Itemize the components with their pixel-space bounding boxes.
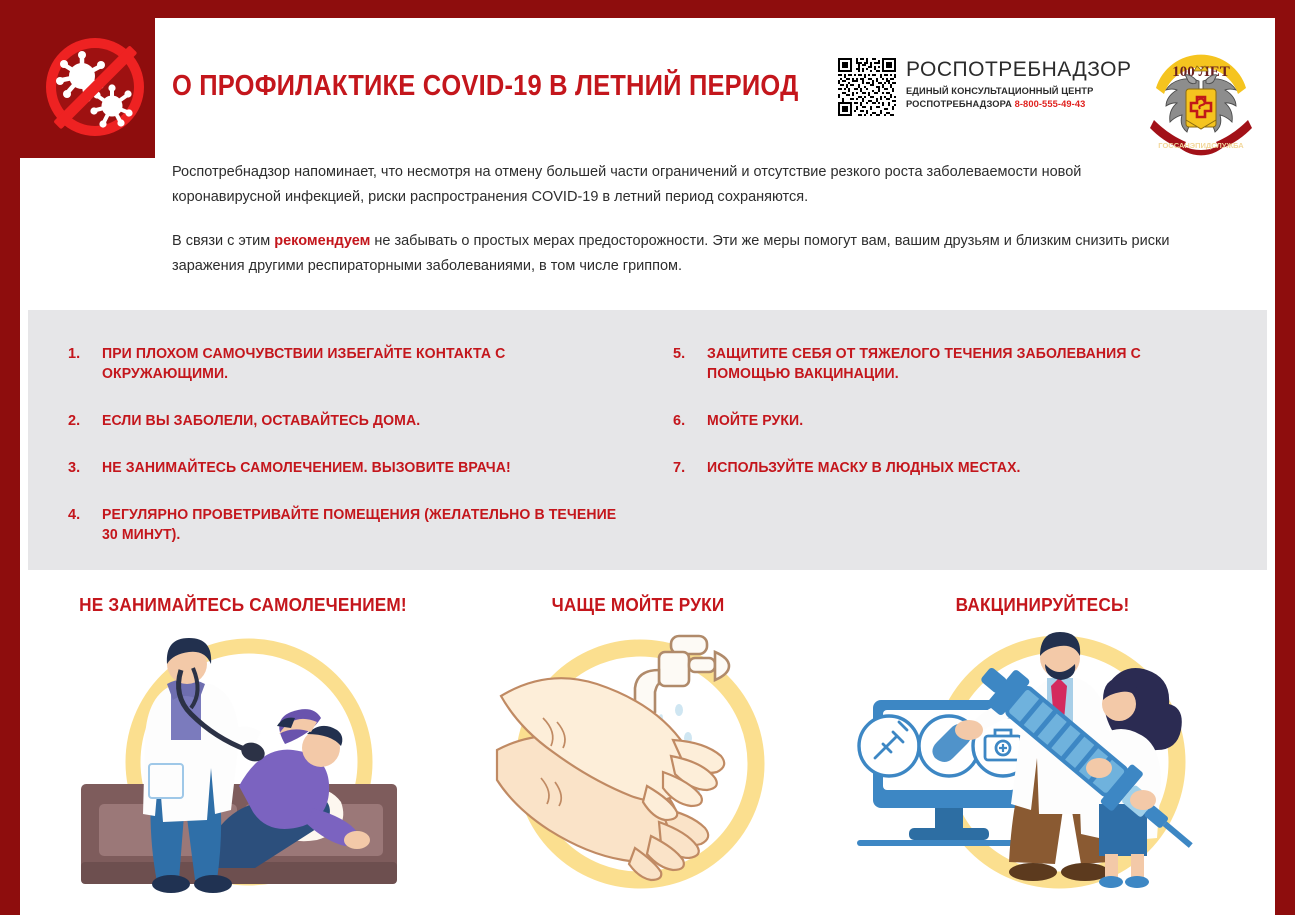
rospotrebnadzor-emblem-icon: 100 ЛЕТ ГОССАНЭП <box>1142 36 1260 158</box>
hotline-number[interactable]: 8-800-555-49-43 <box>1015 99 1086 110</box>
illustration-caption: ВАКЦИНИРУЙТЕСЬ! <box>834 594 1252 616</box>
rule-text: МОЙТЕ РУКИ. <box>707 411 803 431</box>
rules-panel: 1. ПРИ ПЛОХОМ САМОЧУВСТВИИ ИЗБЕГАЙТЕ КОН… <box>28 310 1267 570</box>
poster-header: О ПРОФИЛАКТИКЕ COVID-19 В ЛЕТНИЙ ПЕРИОД <box>20 18 1275 158</box>
rule-text: НЕ ЗАНИМАЙТЕСЬ САМОЛЕЧЕНИЕМ. ВЫЗОВИТЕ ВР… <box>102 458 511 478</box>
washing-hands-illustration <box>483 622 793 900</box>
rule-number: 4. <box>68 505 102 545</box>
org-subtitle: ЕДИНЫЙ КОНСУЛЬТАЦИОННЫЙ ЦЕНТР РОСПОТРЕБН… <box>906 86 1125 111</box>
no-virus-icon <box>42 34 148 140</box>
org-text-block: РОСПОТРЕБНАДЗОР ЕДИНЫЙ КОНСУЛЬТАЦИОННЫЙ … <box>906 58 1131 111</box>
intro-p2-highlight: рекомендуем <box>274 232 370 249</box>
rule-number: 5. <box>673 344 707 384</box>
org-subtitle-line2: РОСПОТРЕБНАДЗОРА 8-800-555-49-43 <box>906 99 1125 112</box>
org-name: РОСПОТРЕБНАДЗОР <box>906 59 1131 81</box>
list-item: 7. ИСПОЛЬЗУЙТЕ МАСКУ В ЛЮДНЫХ МЕСТАХ. <box>673 458 1243 478</box>
intro-p2-before: В связи с этим <box>172 232 274 249</box>
illustration-caption: НЕ ЗАНИМАЙТЕСЬ САМОЛЕЧЕНИЕМ! <box>43 594 443 616</box>
rule-text: ИСПОЛЬЗУЙТЕ МАСКУ В ЛЮДНЫХ МЕСТАХ. <box>707 458 1021 478</box>
rule-text: РЕГУЛЯРНО ПРОВЕТРИВАЙТЕ ПОМЕЩЕНИЯ (ЖЕЛАТ… <box>102 505 632 545</box>
frame-border-left <box>0 0 20 915</box>
rule-number: 7. <box>673 458 707 478</box>
illustrations-row: НЕ ЗАНИМАЙТЕСЬ САМОЛЕЧЕНИЕМ! <box>28 586 1267 915</box>
doctor-examining-patient-illustration <box>63 622 423 900</box>
rules-column-right: 5. ЗАЩИТИТЕ СЕБЯ ОТ ТЯЖЕЛОГО ТЕЧЕНИЯ ЗАБ… <box>673 344 1243 505</box>
rules-column-left: 1. ПРИ ПЛОХОМ САМОЧУВСТВИИ ИЗБЕГАЙТЕ КОН… <box>68 344 648 572</box>
vaccination-doctors-illustration <box>843 622 1243 900</box>
list-item: 1. ПРИ ПЛОХОМ САМОЧУВСТВИИ ИЗБЕГАЙТЕ КОН… <box>68 344 648 384</box>
qr-code-icon[interactable] <box>838 58 896 116</box>
emblem-years-text: 100 ЛЕТ <box>1172 64 1229 80</box>
emblem-ribbon-text: ГОССАНЭПИДСЛУЖБА <box>1158 141 1244 150</box>
rule-text: ЗАЩИТИТЕ СЕБЯ ОТ ТЯЖЕЛОГО ТЕЧЕНИЯ ЗАБОЛЕ… <box>707 344 1227 384</box>
illustration-panel-self-medication: НЕ ЗАНИМАЙТЕСЬ САМОЛЕЧЕНИЕМ! <box>28 586 458 915</box>
monitor-icon <box>857 700 1033 846</box>
list-item: 3. НЕ ЗАНИМАЙТЕСЬ САМОЛЕЧЕНИЕМ. ВЫЗОВИТЕ… <box>68 458 648 478</box>
rule-text: ПРИ ПЛОХОМ САМОЧУВСТВИИ ИЗБЕГАЙТЕ КОНТАК… <box>102 344 632 384</box>
page-title: О ПРОФИЛАКТИКЕ COVID-19 В ЛЕТНИЙ ПЕРИОД <box>172 70 798 103</box>
illustration-panel-vaccination: ВАКЦИНИРУЙТЕСЬ! <box>818 586 1267 915</box>
frame-border-top <box>0 0 1295 18</box>
intro-paragraph-1: Роспотребнадзор напоминает, что несмотря… <box>172 160 1182 209</box>
illustration-caption: ЧАЩЕ МОЙТЕ РУКИ <box>471 594 806 616</box>
list-item: 5. ЗАЩИТИТЕ СЕБЯ ОТ ТЯЖЕЛОГО ТЕЧЕНИЯ ЗАБ… <box>673 344 1243 384</box>
list-item: 2. ЕСЛИ ВЫ ЗАБОЛЕЛИ, ОСТАВАЙТЕСЬ ДОМА. <box>68 411 648 431</box>
org-subtitle-line2-text: РОСПОТРЕБНАДЗОРА <box>906 99 1012 110</box>
org-subtitle-line1: ЕДИНЫЙ КОНСУЛЬТАЦИОННЫЙ ЦЕНТР <box>906 86 1125 99</box>
rule-number: 2. <box>68 411 102 431</box>
rule-number: 1. <box>68 344 102 384</box>
list-item: 6. МОЙТЕ РУКИ. <box>673 411 1243 431</box>
intro-paragraph-2: В связи с этим рекомендуем не забывать о… <box>172 229 1182 278</box>
poster-root: О ПРОФИЛАКТИКЕ COVID-19 В ЛЕТНИЙ ПЕРИОД <box>0 0 1295 915</box>
title-wrapper: О ПРОФИЛАКТИКЕ COVID-19 В ЛЕТНИЙ ПЕРИОД <box>172 70 884 103</box>
rule-number: 6. <box>673 411 707 431</box>
rospotrebnadzor-block: РОСПОТРЕБНАДЗОР ЕДИНЫЙ КОНСУЛЬТАЦИОННЫЙ … <box>838 58 1131 116</box>
intro-section: Роспотребнадзор напоминает, что несмотря… <box>172 160 1230 279</box>
illustration-panel-wash-hands: ЧАЩЕ МОЙТЕ РУКИ <box>458 586 818 915</box>
rule-number: 3. <box>68 458 102 478</box>
frame-border-right <box>1275 0 1295 915</box>
list-item: 4. РЕГУЛЯРНО ПРОВЕТРИВАЙТЕ ПОМЕЩЕНИЯ (ЖЕ… <box>68 505 648 545</box>
rule-text: ЕСЛИ ВЫ ЗАБОЛЕЛИ, ОСТАВАЙТЕСЬ ДОМА. <box>102 411 420 431</box>
